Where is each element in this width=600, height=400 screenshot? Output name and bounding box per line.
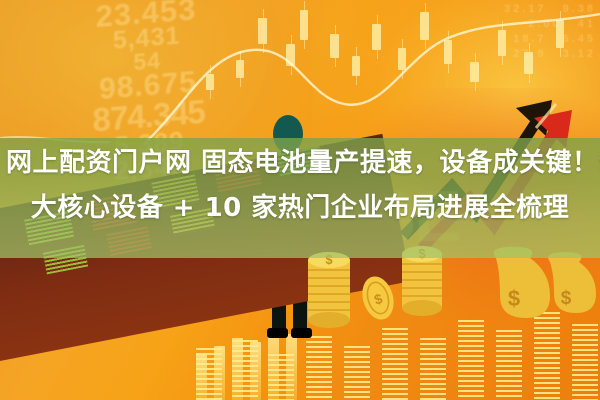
svg-text:$: $: [561, 288, 572, 309]
headline-line-1: 网上配资门户网 固态电池量产提速，设备成关键！9: [6, 141, 594, 186]
money-bag: $: [548, 252, 596, 313]
page-title: 网上配资门户网 固态电池量产提速，设备成关键！9 大核心设备 + 10 家热门企…: [0, 141, 600, 231]
svg-text:$: $: [508, 286, 520, 311]
coin-stack: $: [308, 252, 350, 328]
headline-line-2: 大核心设备 + 10 家热门企业布局进展全梳理: [6, 186, 594, 231]
coin-single: $: [358, 273, 399, 324]
banner-image: 23.453 5,431 54 98.675 874.345 5,389 2,3…: [0, 0, 600, 400]
